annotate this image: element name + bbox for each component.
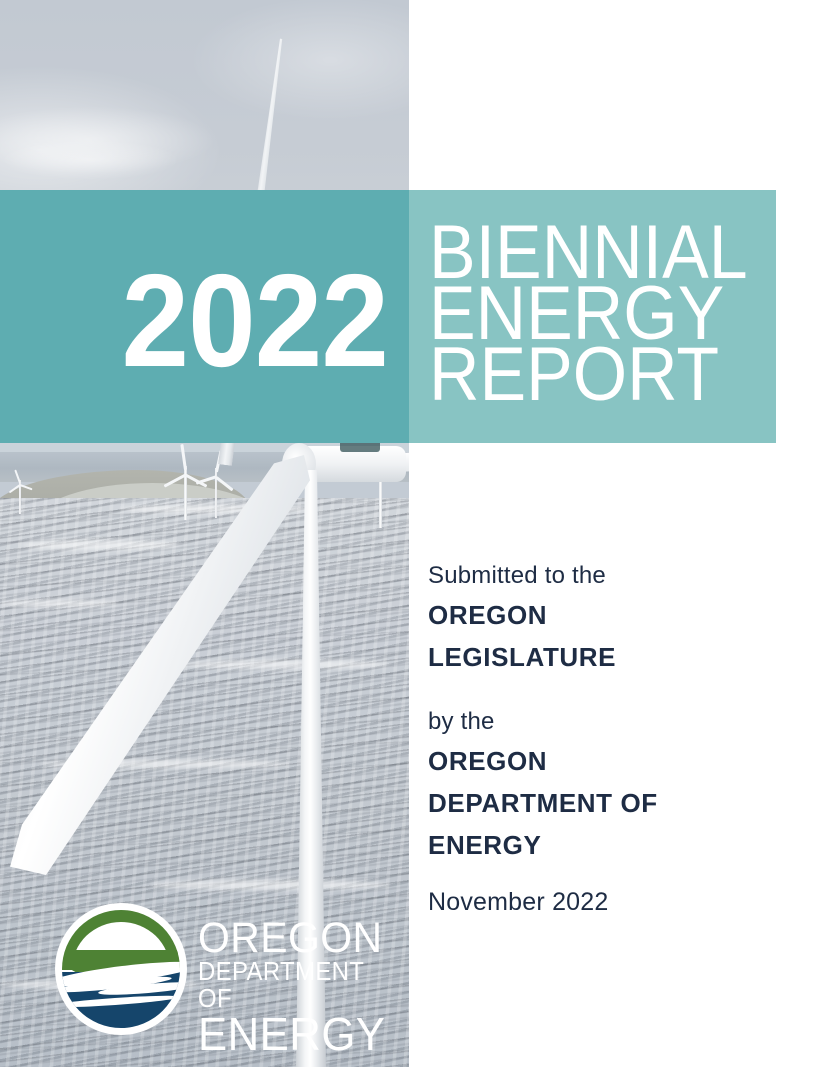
page-title-line-3: REPORT	[429, 344, 748, 405]
author-org-line-1: OREGON	[428, 740, 798, 782]
turbine-blade-lower	[10, 455, 310, 875]
snow-streak	[150, 880, 390, 890]
page-title: BIENNIAL ENERGY REPORT	[429, 222, 748, 405]
seal-inner	[62, 910, 180, 1028]
by-label: by the	[428, 704, 798, 740]
agency-logo-text: OREGON DEPARTMENT OF ENERGY	[198, 918, 395, 1056]
author-org-line-2: DEPARTMENT OF	[428, 782, 798, 824]
submission-block: Submitted to the OREGON LEGISLATURE by t…	[428, 558, 798, 866]
turbine-tower	[379, 476, 382, 528]
submitted-to-label: Submitted to the	[428, 558, 798, 594]
block-spacer	[428, 678, 798, 704]
submitted-to-org-line-1: OREGON	[428, 594, 798, 636]
author-org-line-3: ENERGY	[428, 824, 798, 866]
report-cover-page: 2022 BIENNIAL ENERGY REPORT Submitted to…	[0, 0, 825, 1067]
cover-year: 2022	[31, 255, 388, 387]
submitted-to-org-line-2: LEGISLATURE	[428, 636, 798, 678]
publication-date: November 2022	[428, 888, 608, 917]
agency-logo-line-1: OREGON	[198, 918, 385, 958]
turbine-blade-lower-shape	[10, 455, 310, 875]
agency-logo-line-2: DEPARTMENT OF	[198, 958, 379, 1012]
agency-logo-line-3: ENERGY	[198, 1012, 385, 1056]
agency-logo: OREGON DEPARTMENT OF ENERGY	[58, 906, 388, 1034]
oregon-doe-seal-icon	[58, 906, 184, 1032]
cloud-shape	[0, 140, 180, 180]
